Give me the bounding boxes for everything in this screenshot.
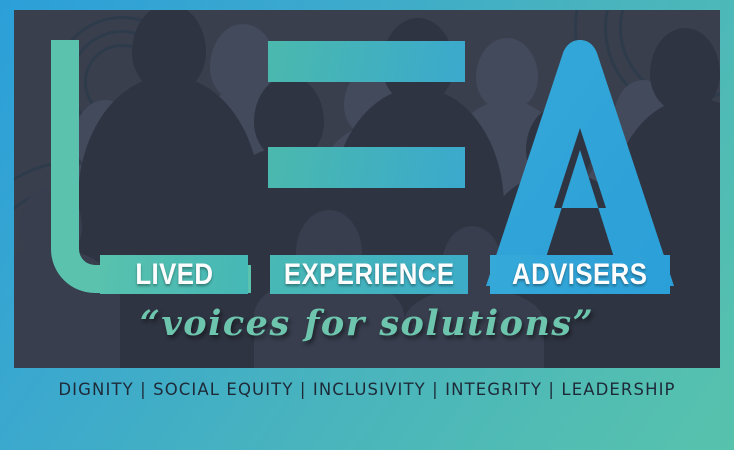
logo-letter-e-bar-bottom <box>268 147 465 188</box>
word-label-advisers: ADVISERS <box>512 258 647 292</box>
logo-banner: LIVED EXPERIENCE ADVISERS “voices for so… <box>0 0 734 450</box>
word-band-lived: LIVED <box>100 255 248 294</box>
word-label-experience: EXPERIENCE <box>284 258 455 292</box>
values-strip: DIGNITY | SOCIAL EQUITY | INCLUSIVITY | … <box>0 375 734 403</box>
word-label-lived: LIVED <box>135 258 213 292</box>
tagline: “voices for solutions” <box>0 303 734 344</box>
logo-letter-e-bar-top <box>268 41 465 82</box>
word-band-advisers: ADVISERS <box>490 255 670 294</box>
word-band-experience: EXPERIENCE <box>270 255 468 294</box>
